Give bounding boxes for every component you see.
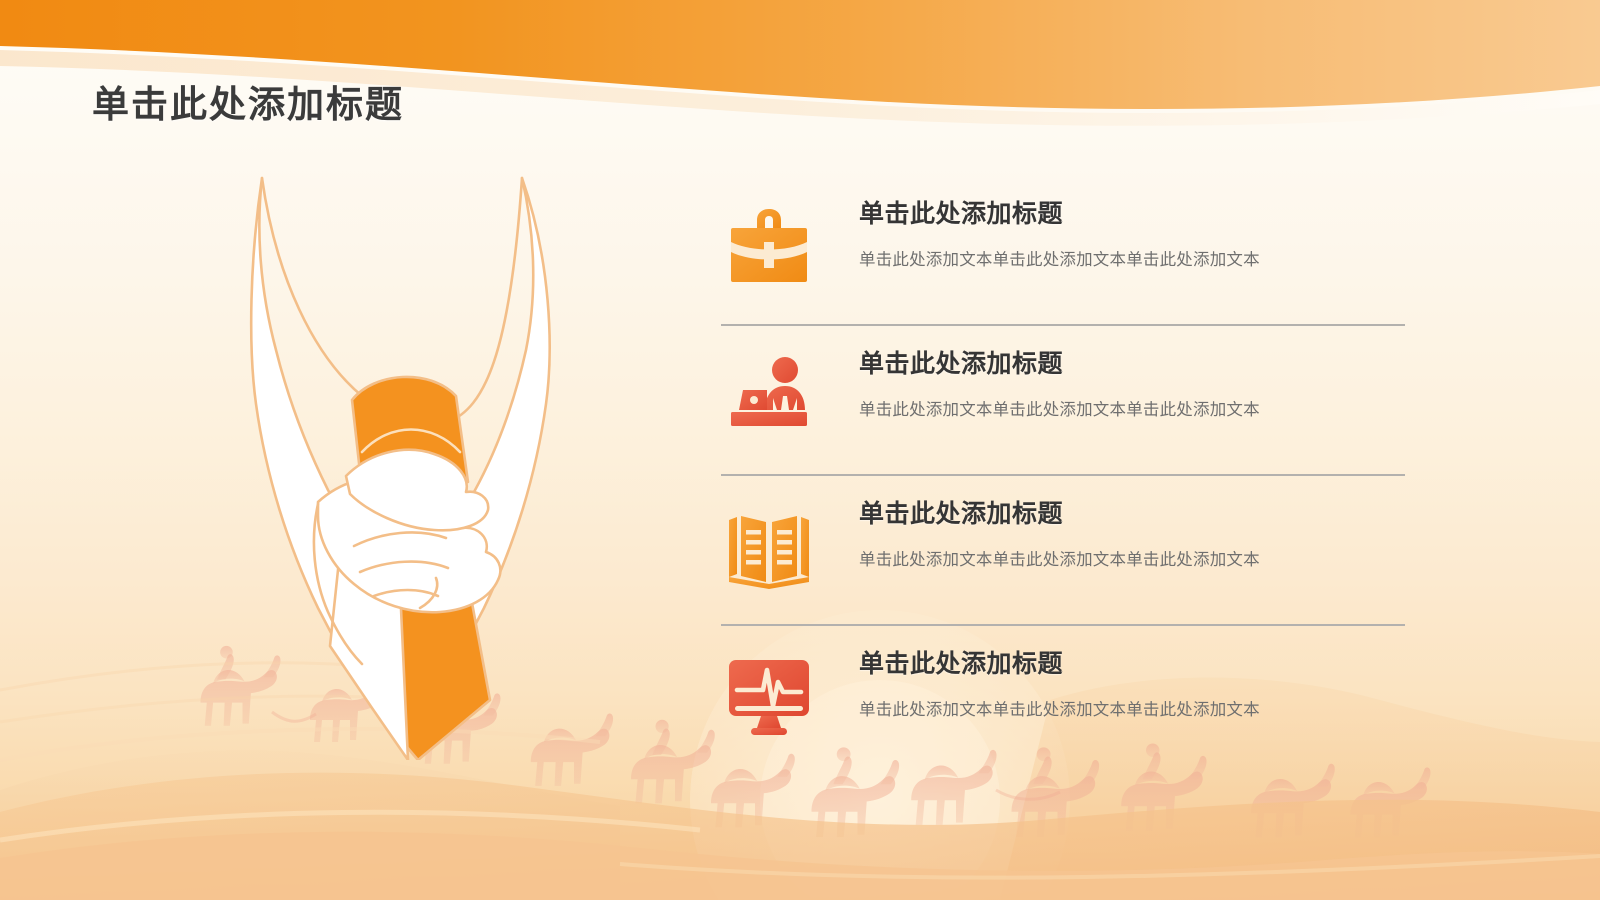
list-item-title: 单击此处添加标题	[859, 644, 1260, 680]
feature-list: 单击此处添加标题 单击此处添加文本单击此处添加文本单击此处添加文本	[705, 176, 1411, 776]
open-book-icon	[721, 492, 817, 596]
briefcase-icon	[721, 192, 817, 296]
list-item-title: 单击此处添加标题	[859, 194, 1260, 230]
list-item-text: 单击此处添加标题 单击此处添加文本单击此处添加文本单击此处添加文本	[859, 176, 1260, 270]
list-item-body: 单击此处添加文本单击此处添加文本单击此处添加文本	[859, 696, 1260, 720]
list-item[interactable]: 单击此处添加标题 单击此处添加文本单击此处添加文本单击此处添加文本	[705, 176, 1411, 326]
page-title: 单击此处添加标题	[92, 74, 404, 128]
list-item-body: 单击此处添加文本单击此处添加文本单击此处添加文本	[859, 546, 1260, 570]
list-item[interactable]: 单击此处添加标题 单击此处添加文本单击此处添加文本单击此处添加文本	[705, 326, 1411, 476]
list-item-title: 单击此处添加标题	[859, 494, 1260, 530]
person-at-desk-icon	[721, 342, 817, 446]
list-item[interactable]: 单击此处添加标题 单击此处添加文本单击此处添加文本单击此处添加文本	[705, 476, 1411, 626]
list-item-body: 单击此处添加文本单击此处添加文本单击此处添加文本	[859, 246, 1260, 270]
monitor-heartbeat-icon	[721, 642, 817, 746]
list-item[interactable]: 单击此处添加标题 单击此处添加文本单击此处添加文本单击此处添加文本	[705, 626, 1411, 776]
list-item-text: 单击此处添加标题 单击此处添加文本单击此处添加文本单击此处添加文本	[859, 476, 1260, 570]
list-item-text: 单击此处添加标题 单击此处添加文本单击此处添加文本单击此处添加文本	[859, 626, 1260, 720]
list-item-text: 单击此处添加标题 单击此处添加文本单击此处添加文本单击此处添加文本	[859, 326, 1260, 420]
slide-canvas: 单击此处添加标题	[0, 0, 1600, 900]
list-item-title: 单击此处添加标题	[859, 344, 1260, 380]
list-item-body: 单击此处添加文本单击此处添加文本单击此处添加文本	[859, 396, 1260, 420]
hand-holding-necktie-illustration	[222, 160, 622, 760]
